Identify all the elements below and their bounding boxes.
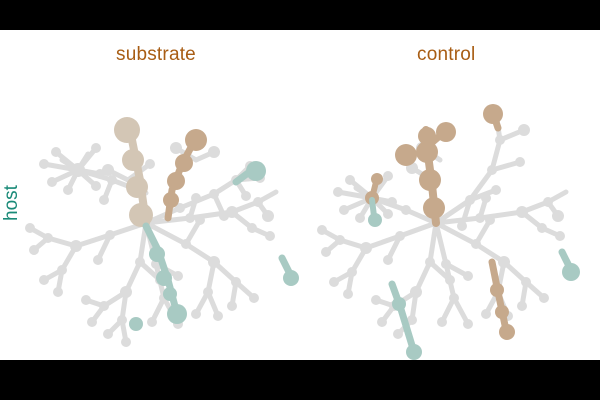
panel-title-substrate: substrate	[116, 44, 196, 66]
substrate-clade-teal-right	[282, 258, 299, 286]
letterbox-top-bar	[0, 0, 600, 30]
control-clade-tan-topright	[483, 104, 503, 128]
control-background-branches	[322, 114, 566, 334]
tree-substrate	[25, 117, 299, 347]
panel-title-control: control	[417, 44, 475, 66]
control-clade-teal-right	[562, 252, 580, 281]
tree-control	[317, 104, 580, 360]
axis-label-host: host	[1, 173, 23, 233]
substrate-clade-teal-upper	[236, 161, 266, 182]
substrate-clade-beige	[114, 117, 153, 227]
tree-diagram-svg	[0, 30, 600, 360]
plot-area: substrate control host	[0, 30, 600, 360]
figure-root: substrate control host	[0, 0, 600, 400]
substrate-clade-teal-bottom	[129, 317, 143, 331]
letterbox-bottom-bar	[0, 360, 600, 400]
control-background-nodes	[317, 124, 565, 339]
